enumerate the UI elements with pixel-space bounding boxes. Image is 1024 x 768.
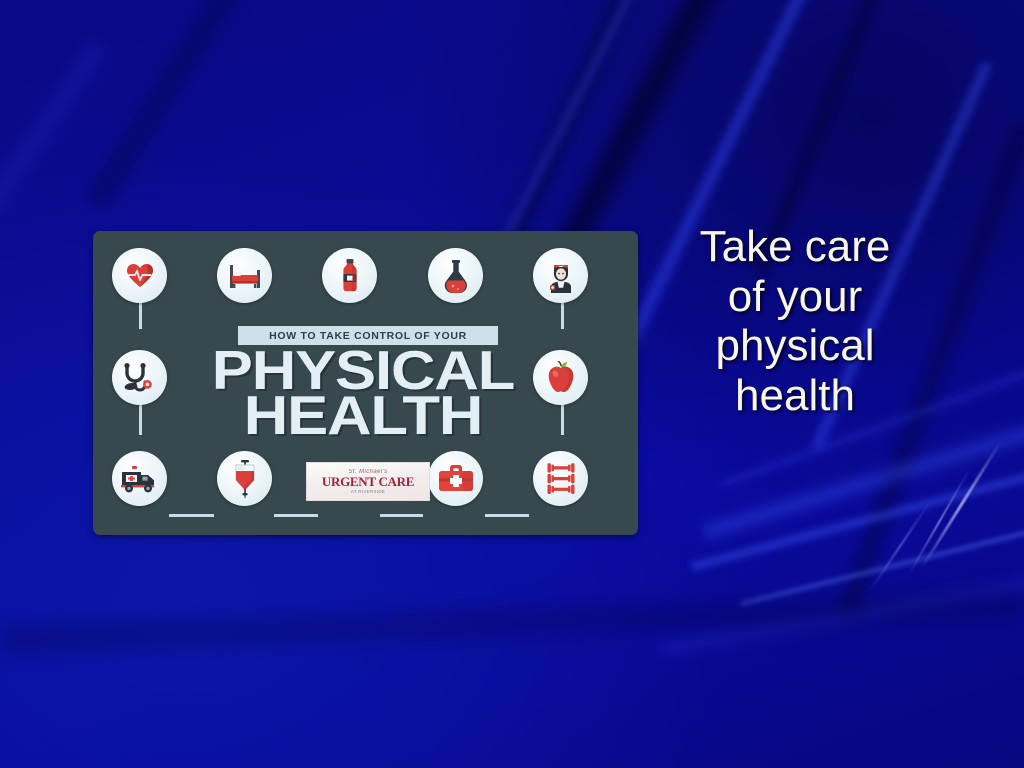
urgent-care-logo: St. Michael's URGENT CARE AT RIVERSIDE [306, 462, 430, 501]
hairline-streak [921, 440, 1003, 569]
slide-caption: Take care of your physical health [650, 222, 940, 421]
infographic-title: PHYSICAL HEALTH [183, 348, 543, 438]
presentation-slide: HOW TO TAKE CONTROL OF YOUR PHYSICAL HEA… [0, 0, 1024, 768]
lab-flask-icon [441, 259, 471, 293]
connector-line [169, 514, 214, 517]
node-stethoscope [112, 350, 167, 405]
node-hospital-bed [217, 248, 272, 303]
node-dumbbell [533, 451, 588, 506]
heart-pulse-icon [124, 260, 156, 292]
node-water-bottle [322, 248, 377, 303]
node-lab-flask [428, 248, 483, 303]
infographic-title-line2: HEALTH [161, 393, 564, 438]
hairline-streak [868, 500, 931, 592]
caption-line-3: physical [650, 321, 940, 371]
node-ambulance [112, 451, 167, 506]
node-first-aid-kit [428, 451, 483, 506]
ambulance-icon [120, 464, 160, 494]
logo-line-1: St. Michael's [348, 469, 387, 475]
node-iv-blood-bag [217, 451, 272, 506]
dark-streak [81, 0, 269, 212]
caption-line-2: of your [650, 272, 940, 322]
caption-line-1: Take care [650, 222, 940, 272]
hairline-streak [908, 470, 970, 575]
light-wedge-streak [690, 456, 1024, 573]
water-bottle-icon [339, 258, 361, 294]
logo-line-2: URGENT CARE [322, 475, 414, 488]
hospital-bed-icon [228, 261, 262, 291]
iv-blood-bag-icon [232, 460, 258, 498]
connector-line [485, 514, 529, 517]
first-aid-kit-icon [438, 464, 474, 494]
dumbbell-icon [544, 462, 578, 496]
node-nurse [533, 248, 588, 303]
connector-line [274, 514, 318, 517]
light-wedge-streak [660, 567, 1024, 658]
stethoscope-icon [122, 362, 158, 394]
node-heart [112, 248, 167, 303]
dark-streak [0, 584, 1024, 660]
light-streak [0, 40, 108, 326]
nurse-icon [545, 259, 577, 293]
caption-line-4: health [650, 371, 940, 421]
logo-line-3: AT RIVERSIDE [351, 489, 385, 494]
connector-line [380, 514, 423, 517]
light-wedge-streak [740, 527, 1024, 607]
